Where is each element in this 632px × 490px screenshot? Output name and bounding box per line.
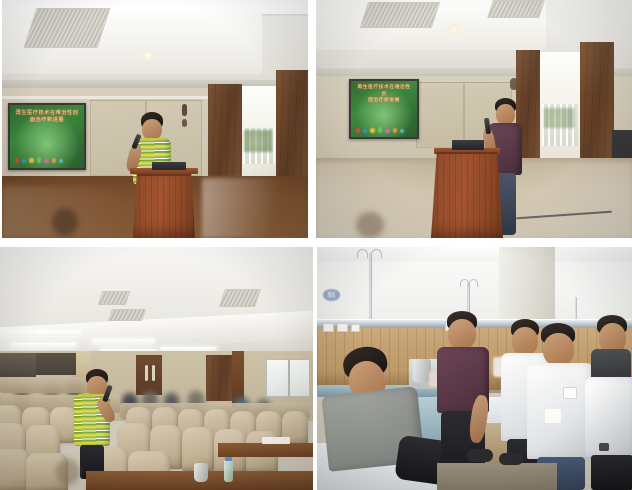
paper-stack <box>262 437 290 444</box>
wristwatch-icon <box>599 443 609 451</box>
wall-trim <box>2 96 208 99</box>
head <box>496 104 515 125</box>
ac-vent-icon <box>219 289 261 307</box>
slide-icon-row <box>15 157 63 163</box>
iv-hook-icon <box>469 279 478 287</box>
slide-title: 再生医疗技术在难治性创 面治疗新进展 <box>14 110 79 124</box>
window-mullion <box>288 359 290 397</box>
laptop-icon <box>152 162 186 170</box>
wood-wall-far-right <box>580 42 614 172</box>
wall-outlet-icon <box>337 323 348 332</box>
laptop-icon <box>452 140 484 150</box>
photo-collage: 再生医疗技术在难治性创 面治疗新进展 <box>0 0 632 490</box>
floor-reflection <box>202 178 308 238</box>
shoe <box>499 453 523 465</box>
wall-panel-left <box>0 353 36 377</box>
slide-icon <box>378 127 382 133</box>
microphone <box>484 118 491 135</box>
slide-icon <box>393 128 397 133</box>
audience-speaker <box>72 369 120 479</box>
slide-icon <box>37 157 41 163</box>
ac-vent-icon <box>98 291 131 305</box>
head <box>448 319 476 349</box>
slide-icon <box>400 129 404 133</box>
iv-hook-icon <box>371 249 382 258</box>
wall-outlet-icon <box>323 323 334 332</box>
greenery <box>544 108 574 128</box>
slide-icon <box>385 129 390 133</box>
ac-vent-icon <box>24 8 111 48</box>
greenery <box>244 130 272 152</box>
projected-slide: 再生医疗技术在难治性创 面治疗新进展 <box>351 81 417 137</box>
foreground-blur <box>356 212 384 238</box>
slide-icon <box>22 159 26 163</box>
ac-vent-icon <box>360 2 440 28</box>
bottle-cap-icon <box>225 457 232 461</box>
collage-panel-top-left: 再生医疗技术在难治性创 面治疗新进展 <box>2 0 308 238</box>
iv-hook-icon <box>460 279 469 287</box>
ac-vent-icon <box>108 309 146 321</box>
legs <box>591 455 632 490</box>
iv-hook-icon <box>357 249 368 258</box>
room-number-sign: 51 <box>323 289 340 301</box>
shoe <box>467 449 493 462</box>
projection-screen: 再生医疗技术在难治性创 面治疗新进展 <box>8 103 86 170</box>
head <box>142 119 162 140</box>
downlight-icon <box>446 24 462 35</box>
floor <box>437 463 557 490</box>
ceiling-light <box>91 339 155 344</box>
slide-icon <box>356 128 360 133</box>
ceiling-light <box>5 331 81 336</box>
collage-panel-bottom-right: 51 <box>317 247 632 490</box>
slide-icon <box>44 159 49 163</box>
podium <box>431 152 503 238</box>
doorway <box>136 355 162 395</box>
ceiling-light <box>9 343 77 347</box>
slide-icon <box>59 159 63 163</box>
podium <box>133 174 195 238</box>
collage-panel-bottom-left <box>0 247 313 490</box>
slide-icon <box>29 158 34 163</box>
foreground-blur <box>56 459 80 485</box>
projection-screen: 再生医疗技术在难治性创 面治疗新进展 <box>349 79 419 139</box>
water-bottle <box>224 460 233 482</box>
collage-panel-top-right: 再生医疗技术在难治性创 面治疗新进展 <box>316 0 632 238</box>
door-handle-icon <box>145 365 148 381</box>
doctor <box>585 315 632 490</box>
door-handle-icon <box>152 365 155 381</box>
projected-slide: 再生医疗技术在难治性创 面治疗新进展 <box>10 105 84 168</box>
id-badge <box>563 387 577 399</box>
wall-panel <box>416 82 464 148</box>
iv-pole <box>369 253 372 321</box>
ac-vent-icon <box>487 0 545 18</box>
table <box>218 443 313 457</box>
slide-icon-row <box>356 127 404 133</box>
head <box>543 333 574 366</box>
slide-icon <box>15 158 19 163</box>
id-badge <box>545 409 561 423</box>
slide-icon <box>370 128 375 133</box>
wall-outlet-icon <box>351 324 360 332</box>
slide-icon <box>52 158 56 163</box>
downlight-icon <box>140 50 156 61</box>
tea-cup <box>194 463 208 482</box>
foreground-blur <box>52 208 78 236</box>
slide-icon <box>363 129 367 133</box>
slide-title: 再生医疗技术在难治性创 面治疗新进展 <box>355 85 413 104</box>
